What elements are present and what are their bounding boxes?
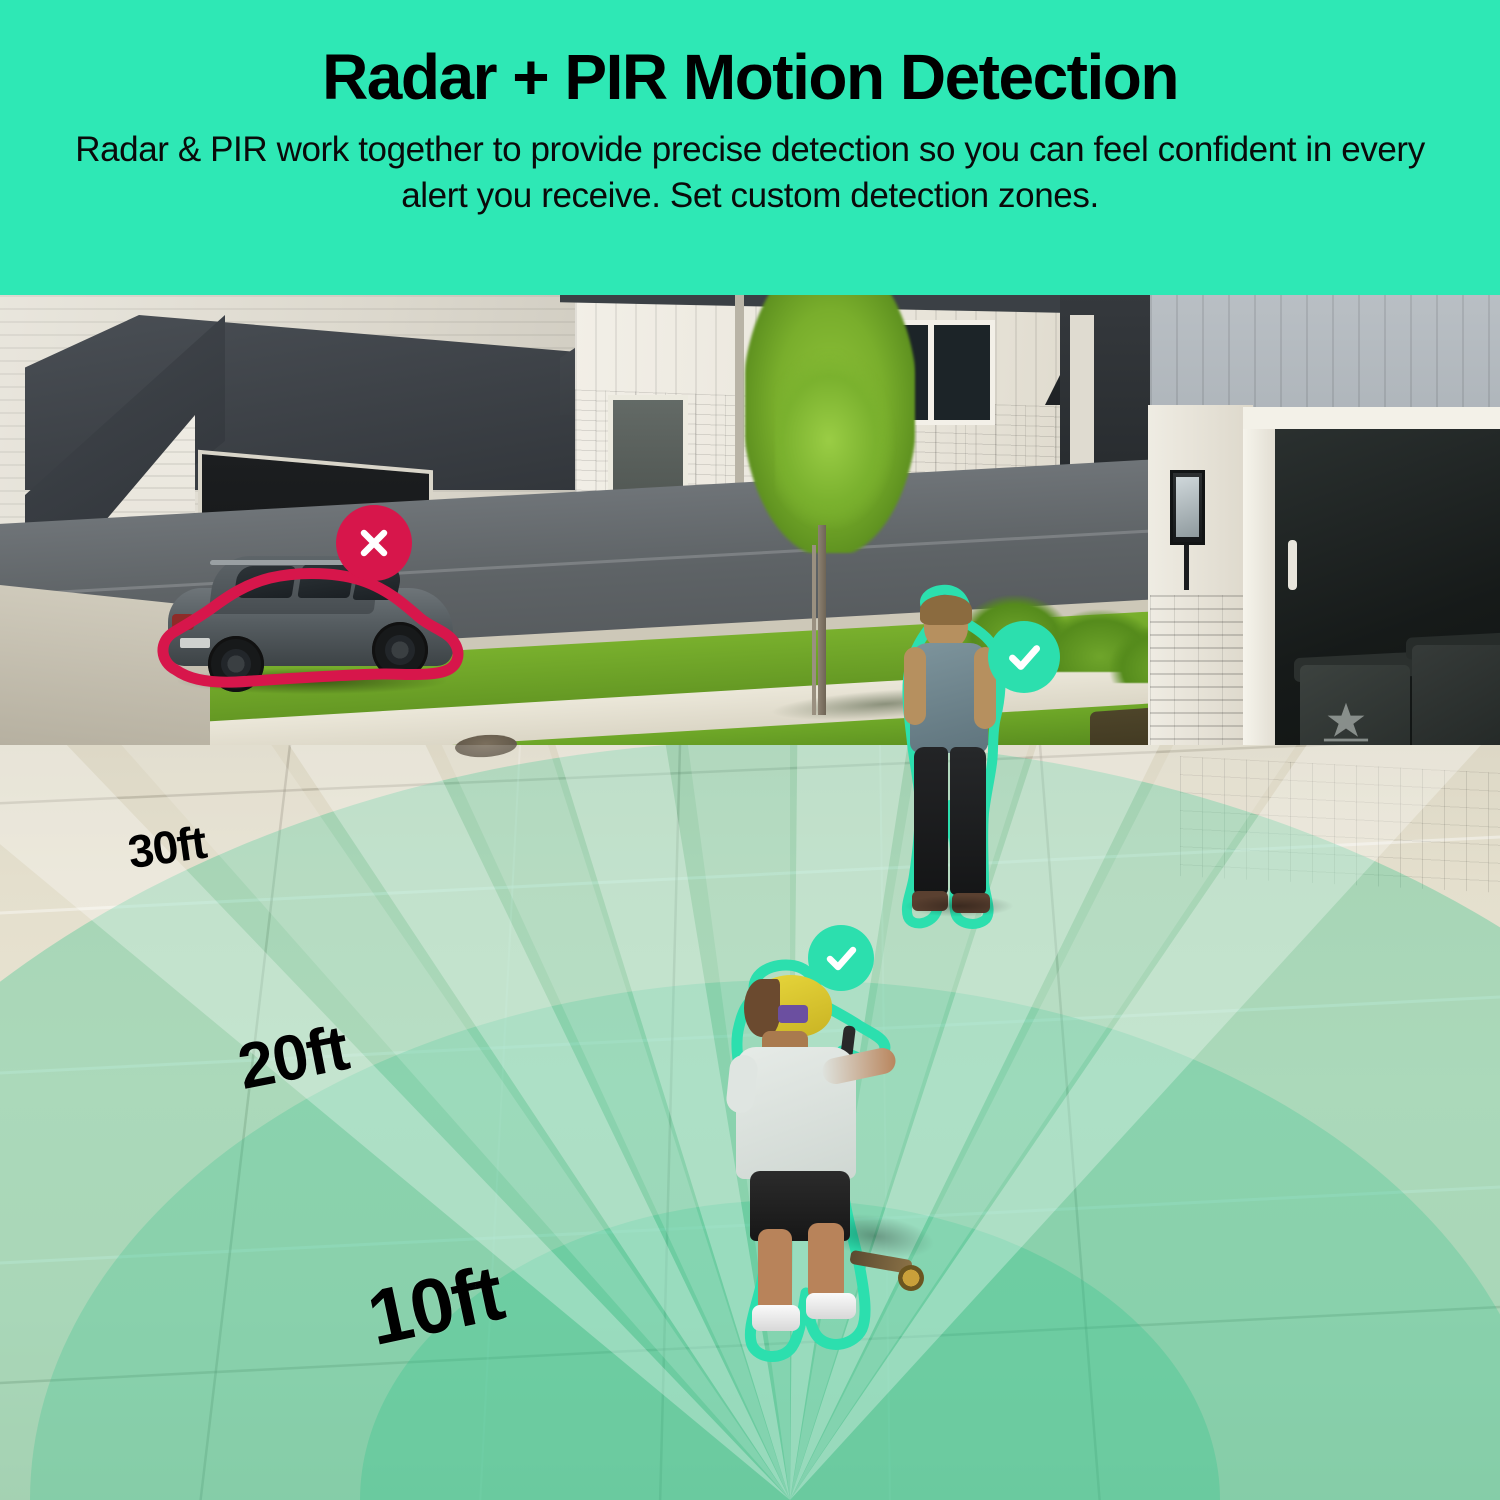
- header-banner: Radar + PIR Motion Detection Radar & PIR…: [0, 0, 1500, 295]
- check-icon: [1003, 636, 1045, 678]
- person-arm-left: [904, 647, 926, 725]
- person-leg-left: [914, 747, 948, 895]
- detected-object-person-child[interactable]: [710, 965, 910, 1365]
- distance-label-30ft: 30ft: [125, 815, 210, 879]
- page-subtitle: Radar & PIR work together to provide pre…: [40, 127, 1460, 219]
- child-leg-left: [758, 1229, 792, 1315]
- status-badge-rejected: [336, 505, 412, 581]
- status-badge-detected-adult: [988, 621, 1060, 693]
- child-shoe-right: [806, 1293, 856, 1319]
- camera-scene: 30ft 20ft 10ft: [0, 295, 1500, 1500]
- helmet-graphic: [778, 1005, 808, 1023]
- promo-graphic: Radar + PIR Motion Detection Radar & PIR…: [0, 0, 1500, 1500]
- child-leg-right: [808, 1223, 844, 1301]
- car-detection-outline: [150, 550, 470, 710]
- person-hair: [920, 595, 972, 625]
- close-icon: [354, 523, 394, 563]
- person-leg-right: [950, 747, 986, 895]
- status-badge-detected-child: [808, 925, 874, 991]
- scooter-wheel-front: [898, 1265, 924, 1291]
- child-shoe-left: [752, 1305, 800, 1331]
- detected-object-car[interactable]: [150, 550, 470, 710]
- check-icon: [821, 938, 861, 978]
- person-shadow: [904, 895, 1014, 917]
- page-title: Radar + PIR Motion Detection: [322, 44, 1178, 111]
- child-hair: [744, 979, 780, 1037]
